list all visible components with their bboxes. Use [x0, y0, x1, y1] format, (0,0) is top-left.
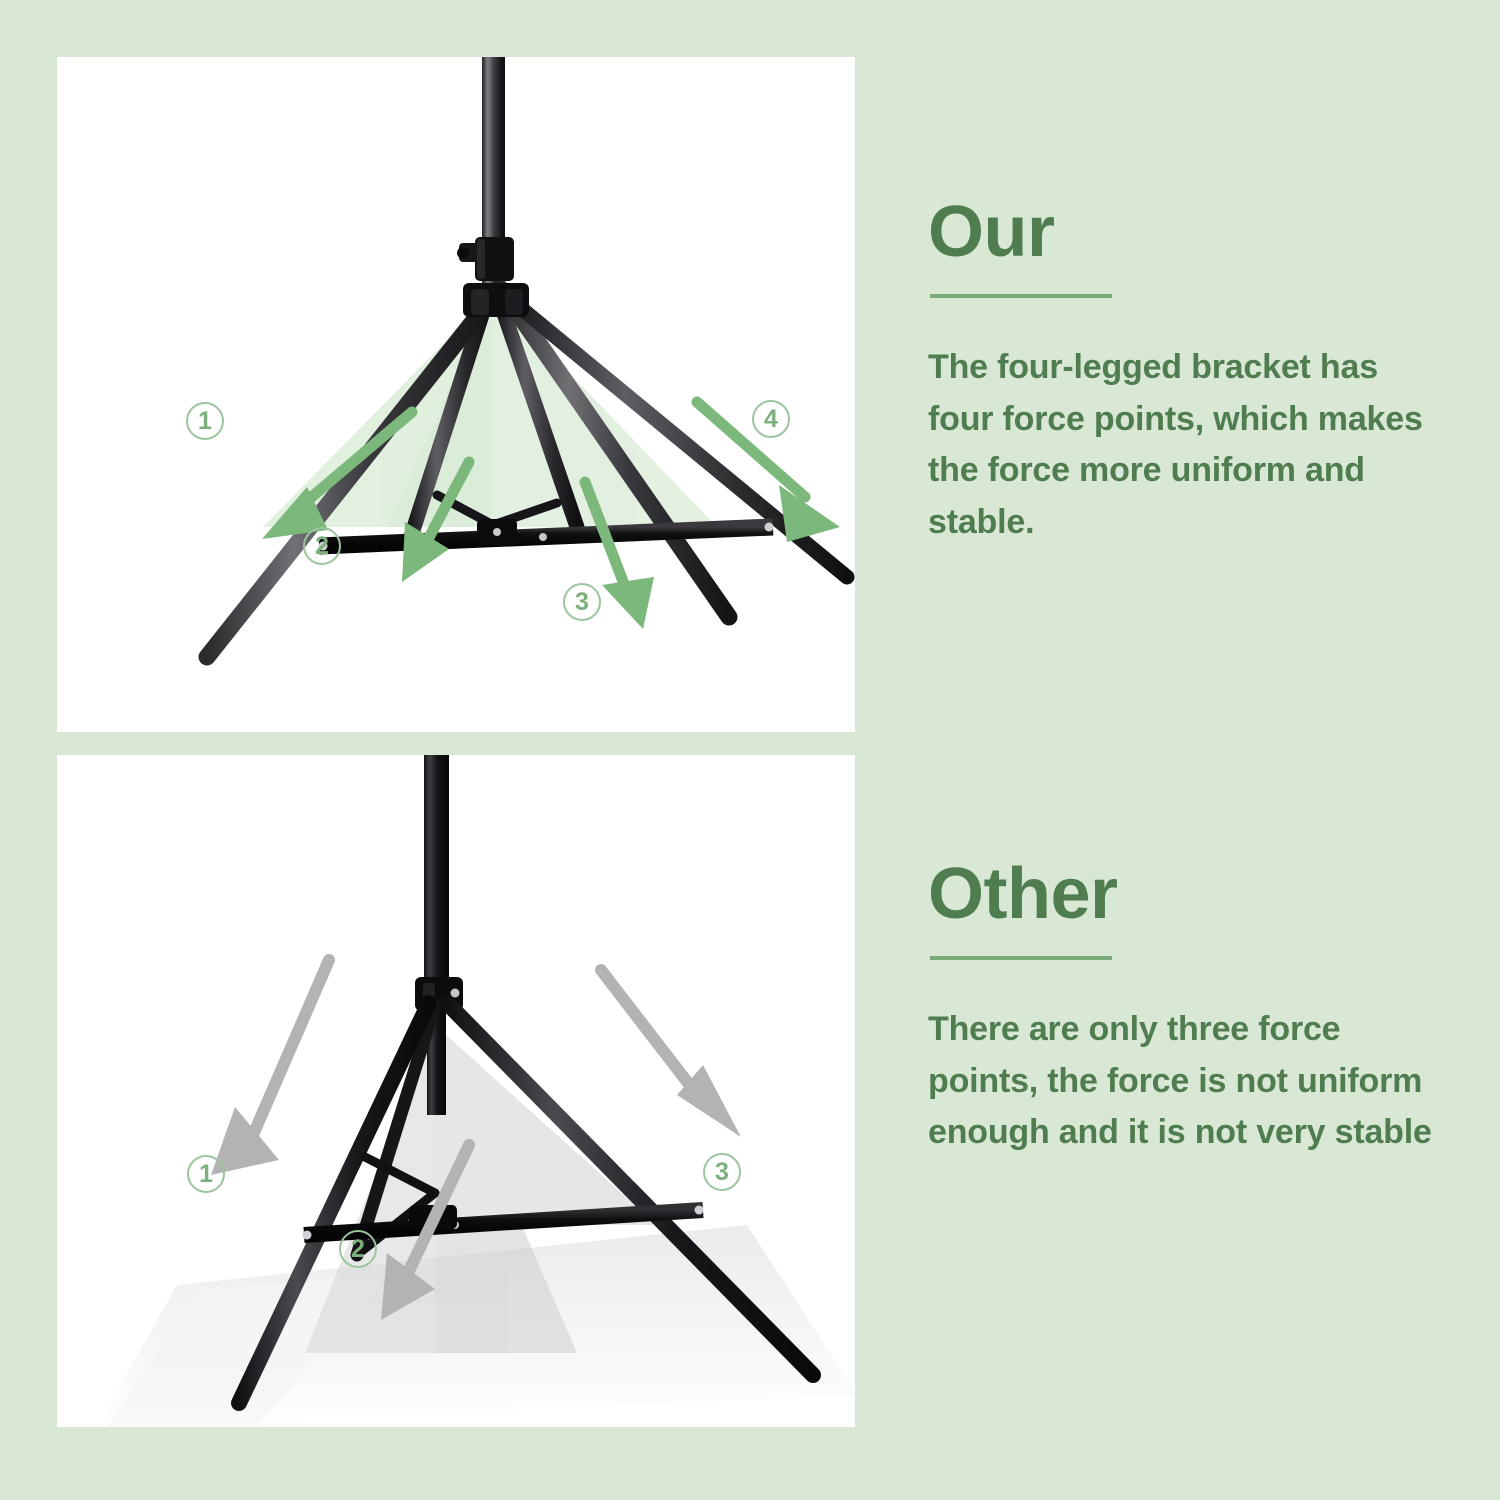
- our-heading: Our: [928, 196, 1448, 268]
- center-pole: [424, 755, 449, 993]
- callout-label: 4: [764, 407, 778, 432]
- other-product-image-panel: [57, 755, 855, 1427]
- other-body-text: There are only three force points, the f…: [928, 1004, 1458, 1159]
- callout-badge-other-1: 1: [187, 1155, 225, 1193]
- callout-badge-our-3: 3: [563, 583, 601, 621]
- callout-label: 3: [575, 590, 589, 615]
- other-text-block: Other There are only three force points,…: [928, 858, 1458, 1159]
- callout-badge-other-3: 3: [703, 1153, 741, 1191]
- other-heading-underline: [930, 956, 1112, 960]
- force-arrow-1: [211, 960, 329, 1175]
- our-heading-underline: [930, 294, 1112, 298]
- four-leg-tripod-illustration: [57, 57, 855, 732]
- height-lock-collar: [457, 237, 514, 281]
- our-product-image-panel: [57, 57, 855, 732]
- other-heading: Other: [928, 858, 1458, 930]
- our-body-text: The four-legged bracket has four force p…: [928, 342, 1448, 549]
- three-leg-tripod-illustration: [57, 755, 855, 1427]
- callout-label: 1: [199, 1162, 213, 1187]
- callout-badge-other-2: 2: [339, 1230, 377, 1268]
- comparison-infographic: 1 2 3 4: [0, 0, 1500, 1500]
- callout-badge-our-4: 4: [752, 400, 790, 438]
- callout-label: 1: [198, 409, 212, 434]
- callout-badge-our-1: 1: [186, 402, 224, 440]
- callout-label: 2: [351, 1237, 365, 1262]
- callout-badge-our-2: 2: [303, 527, 341, 565]
- callout-label: 3: [715, 1160, 729, 1185]
- force-arrow-3: [601, 970, 741, 1137]
- spreader-hub: [477, 519, 517, 545]
- our-text-block: Our The four-legged bracket has four for…: [928, 196, 1448, 549]
- callout-label: 2: [315, 534, 329, 559]
- leg-hub: [463, 283, 529, 317]
